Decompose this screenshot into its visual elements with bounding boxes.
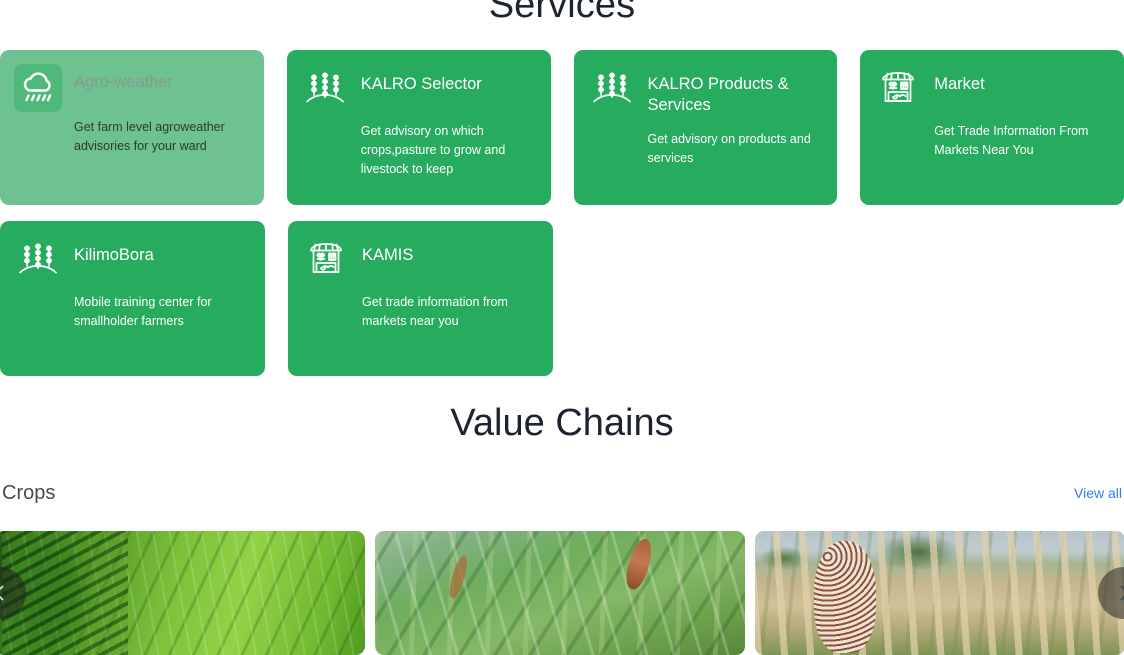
services-row-2: KilimoBora Mobile training center for sm… [0,221,1124,376]
maize-field-photo [375,531,745,655]
chevron-right-icon [1115,584,1124,602]
services-heading: Services [0,0,1124,27]
service-card-market[interactable]: Market Get Trade Information From Market… [860,50,1124,205]
service-card-title: KALRO Selector [361,64,535,95]
wheat-icon [14,235,62,283]
value-chain-card-maize[interactable] [375,531,745,655]
services-row-1: Agro-weather Get farm level agroweather … [0,50,1124,205]
service-card-agro-weather[interactable]: Agro-weather Get farm level agroweather … [0,50,264,205]
value-chain-card-banana[interactable] [0,531,365,655]
service-card-header: KALRO Selector [301,64,535,112]
banana-plantation-photo [0,531,365,655]
service-card-description: Get advisory on which crops,pasture to g… [361,122,535,178]
service-card-header: KALRO Products & Services [588,64,822,116]
service-card-title: Market [934,64,1108,95]
value-chains-carousel [0,531,1124,655]
service-card-title: KALRO Products & Services [648,64,822,116]
service-card-header: Agro-weather [14,64,248,112]
service-card-kalro-products-services[interactable]: KALRO Products & Services Get advisory o… [574,50,838,205]
market-stall-icon [302,235,350,283]
service-card-title: KilimoBora [74,235,249,266]
rain-cloud-icon [14,64,62,112]
view-all-link[interactable]: View all [1074,485,1124,501]
wheat-icon [588,64,636,112]
market-stall-icon [874,64,922,112]
service-card-description: Get Trade Information From Markets Near … [934,122,1108,160]
service-card-header: KAMIS [302,235,537,283]
service-card-kilimobora[interactable]: KilimoBora Mobile training center for sm… [0,221,265,376]
service-card-description: Get advisory on products and services [648,130,822,168]
service-card-kamis[interactable]: KAMIS Get trade information from markets… [288,221,553,376]
service-card-kalro-selector[interactable]: KALRO Selector Get advisory on which cro… [287,50,551,205]
service-card-title: Agro-weather [74,64,248,93]
service-card-description: Get farm level agroweather advisories fo… [74,118,248,156]
services-grid: Agro-weather Get farm level agroweather … [0,50,1124,392]
wheat-icon [301,64,349,112]
service-card-title: KAMIS [362,235,537,266]
value-chain-card-sorghum[interactable] [755,531,1124,655]
value-chains-subheader: Crops View all [0,476,1124,510]
services-value-chains-page: Services Agro-w [0,0,1124,655]
service-card-header: KilimoBora [14,235,249,283]
service-card-header: Market [874,64,1108,112]
service-card-description: Mobile training center for smallholder f… [74,293,249,331]
service-card-description: Get trade information from markets near … [362,293,537,331]
sorghum-field-photo [755,531,1124,655]
value-chain-category-crops: Crops [2,482,55,505]
chevron-left-icon [0,584,9,602]
carousel-track [0,531,1124,655]
value-chains-heading: Value Chains [0,402,1124,445]
